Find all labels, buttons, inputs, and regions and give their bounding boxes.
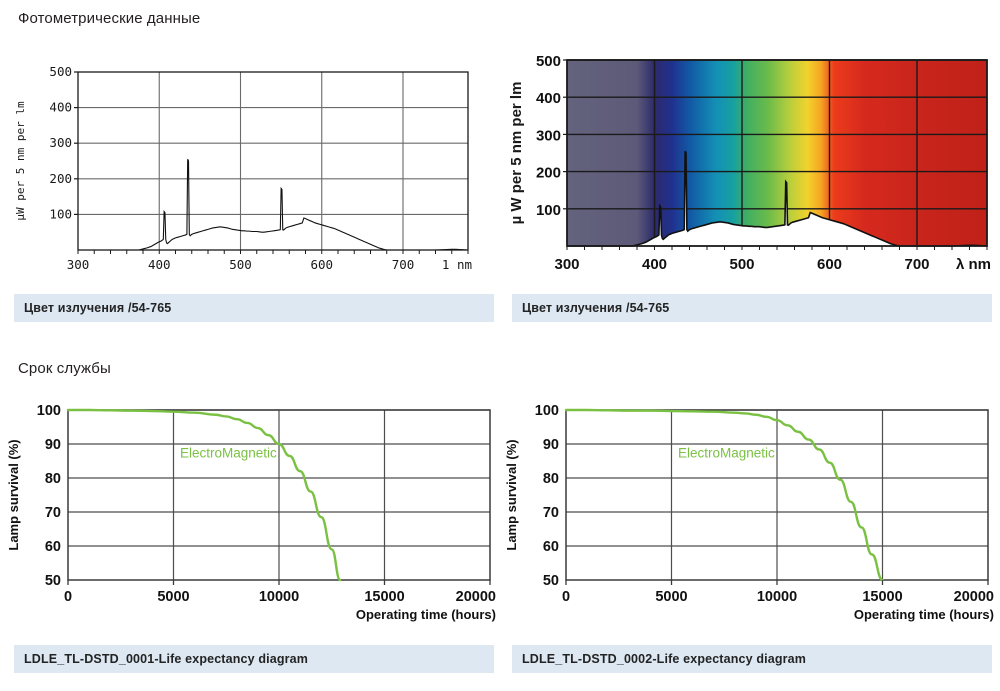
caption-bar-spectral-right: Цвет излучения /54-765 (512, 294, 992, 322)
y-axis-tick-label: 70 (45, 505, 61, 521)
x-axis-tick-label: 20000 (954, 589, 994, 605)
x-axis-tick-label: 10000 (757, 589, 797, 605)
series-label-electromagnetic: ElectroMagnetic (180, 446, 277, 461)
x-axis-tick-label: 400 (148, 257, 171, 272)
x-axis-tick-label: 0 (64, 589, 72, 605)
x-axis-tick-label: 500 (229, 257, 252, 272)
spectral-distribution-chart-monochrome: 1002003004005003004005006007001 nmµW per… (10, 38, 480, 288)
life-right-svg: ElectroMagnetic5060708090100050001000015… (498, 392, 998, 642)
y-axis-tick-label: 500 (536, 53, 561, 70)
y-axis-tick-label: 300 (49, 135, 72, 150)
lamp-survival-curve (566, 410, 883, 580)
y-axis-tick-label: 500 (49, 64, 72, 79)
y-axis-title: µ W per 5 nm per lm (508, 82, 525, 225)
caption-text-life-right: LDLE_TL-DSTD_0002-Life expectancy diagra… (512, 652, 806, 666)
x-axis-tick-label: 0 (562, 589, 570, 605)
x-axis-tick-label: 700 (392, 257, 415, 272)
x-axis-tick-label: 15000 (862, 589, 902, 605)
photometric-data-title: Фотометрические данные (18, 10, 200, 27)
life-left-svg: ElectroMagnetic5060708090100050001000015… (0, 392, 500, 642)
y-axis-tick-label: 200 (536, 165, 561, 182)
y-axis-tick-label: 90 (45, 437, 61, 453)
caption-text-life-left: LDLE_TL-DSTD_0001-Life expectancy diagra… (14, 652, 308, 666)
spectral-right-svg: 100200300400500300400500600700λ nmµ W pe… (505, 38, 995, 288)
life-expectancy-title: Срок службы (18, 360, 111, 377)
spectral-power-curve (78, 159, 468, 250)
caption-text-spectral-left: Цвет излучения /54-765 (14, 301, 171, 315)
lamp-survival-chart-0001: ElectroMagnetic5060708090100050001000015… (0, 392, 500, 642)
x-axis-title: Operating time (hours) (854, 607, 994, 622)
spectral-distribution-chart-color: 100200300400500300400500600700λ nmµ W pe… (505, 38, 995, 288)
y-axis-tick-label: 70 (543, 505, 559, 521)
x-axis-tick-label: 500 (729, 256, 754, 273)
x-axis-tick-label: 10000 (259, 589, 299, 605)
plot-frame (78, 72, 468, 250)
y-axis-tick-label: 80 (543, 471, 559, 487)
y-axis-tick-label: 50 (543, 573, 559, 589)
x-axis-tick-label: 20000 (456, 589, 496, 605)
y-axis-tick-label: 80 (45, 471, 61, 487)
x-axis-tick-label: 400 (642, 256, 667, 273)
y-axis-tick-label: 100 (536, 202, 561, 219)
x-axis-tick-label: 5000 (655, 589, 687, 605)
x-axis-title: 1 nm (442, 257, 472, 272)
spectral-left-svg: 1002003004005003004005006007001 nmµW per… (10, 38, 480, 288)
y-axis-tick-label: 100 (535, 403, 559, 419)
caption-bar-spectral-left: Цвет излучения /54-765 (14, 294, 494, 322)
caption-bar-life-left: LDLE_TL-DSTD_0001-Life expectancy diagra… (14, 645, 494, 673)
y-axis-tick-label: 60 (543, 539, 559, 555)
x-axis-tick-label: 700 (904, 256, 929, 273)
y-axis-title: Lamp survival (%) (504, 439, 519, 550)
x-axis-tick-label: 5000 (157, 589, 189, 605)
lamp-survival-chart-0002: ElectroMagnetic5060708090100050001000015… (498, 392, 998, 642)
lamp-survival-curve (68, 410, 340, 580)
x-axis-title: Operating time (hours) (356, 607, 496, 622)
y-axis-title: Lamp survival (%) (6, 439, 21, 550)
x-axis-title: λ nm (956, 256, 991, 273)
spectrum-gradient-background (567, 60, 987, 246)
x-axis-tick-label: 600 (310, 257, 333, 272)
y-axis-title: µW per 5 nm per lm (14, 101, 27, 221)
y-axis-tick-label: 60 (45, 539, 61, 555)
y-axis-tick-label: 50 (45, 573, 61, 589)
series-label-electromagnetic: ElectroMagnetic (678, 446, 775, 461)
x-axis-tick-label: 300 (67, 257, 90, 272)
x-axis-tick-label: 15000 (364, 589, 404, 605)
x-axis-tick-label: 600 (817, 256, 842, 273)
y-axis-tick-label: 100 (37, 403, 61, 419)
y-axis-tick-label: 300 (536, 127, 561, 144)
caption-bar-life-right: LDLE_TL-DSTD_0002-Life expectancy diagra… (512, 645, 992, 673)
y-axis-tick-label: 100 (49, 206, 72, 221)
y-axis-tick-label: 400 (536, 90, 561, 107)
y-axis-tick-label: 200 (49, 171, 72, 186)
y-axis-tick-label: 90 (543, 437, 559, 453)
x-axis-tick-label: 300 (554, 256, 579, 273)
y-axis-tick-label: 400 (49, 100, 72, 115)
caption-text-spectral-right: Цвет излучения /54-765 (512, 301, 669, 315)
